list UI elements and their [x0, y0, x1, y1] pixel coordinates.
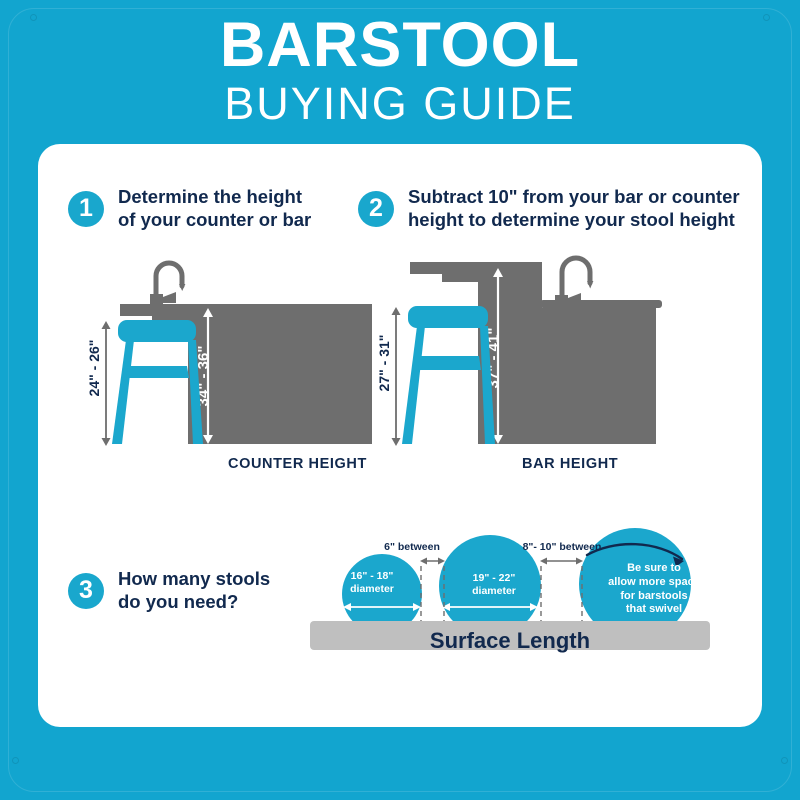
gap-2-arrow [540, 558, 583, 565]
bar-height-caption: BAR HEIGHT [522, 456, 618, 472]
bar-raised-top [410, 262, 542, 444]
bar-stool-height-label: 27" - 31" [376, 335, 392, 392]
gap-1-arrow [420, 558, 445, 565]
page-title: BARSTOOL [0, 0, 800, 77]
page-subtitle: BUYING GUIDE [0, 77, 800, 126]
gap-2-guides [541, 566, 582, 621]
gap-2-label: 8"- 10" between [512, 541, 612, 553]
corner-grommet-bottom-left [12, 757, 19, 764]
step-2-heading: 2 Subtract 10" from your bar or counter … [358, 186, 740, 231]
step-2-label: Subtract 10" from your bar or counter he… [408, 186, 740, 231]
step-2-badge: 2 [358, 191, 394, 227]
poster-header: BARSTOOL BUYING GUIDE [0, 0, 800, 126]
step-3-heading: 3 How many stools do you need? [68, 568, 270, 613]
counter-stool-height-label: 24" - 26" [86, 340, 102, 397]
stool-spacing-illustration [310, 528, 710, 660]
step-1-label: Determine the height of your counter or … [118, 186, 311, 231]
bar-height-illustration: 37" - 41" [390, 248, 680, 456]
step-3-badge: 3 [68, 573, 104, 609]
faucet-icon [150, 263, 185, 306]
counter-stool-height-label-wrap: 24" - 26" [86, 278, 112, 458]
surface-length-bar [310, 621, 710, 650]
step-1-badge: 1 [68, 191, 104, 227]
infographic-poster: BARSTOOL BUYING GUIDE 1 Determine the he… [0, 0, 800, 800]
bar-lower-counter [540, 300, 662, 444]
bar-stool-height-label-wrap: 27" - 31" [376, 268, 402, 458]
counter-height-illustration: 34" - 36" [100, 248, 390, 456]
corner-grommet-bottom-right [781, 757, 788, 764]
step-3-label: How many stools do you need? [118, 568, 270, 613]
step-1-heading: 1 Determine the height of your counter o… [68, 186, 311, 231]
counter-height-caption: COUNTER HEIGHT [228, 456, 367, 472]
gap-1-label: 6" between [382, 541, 442, 553]
